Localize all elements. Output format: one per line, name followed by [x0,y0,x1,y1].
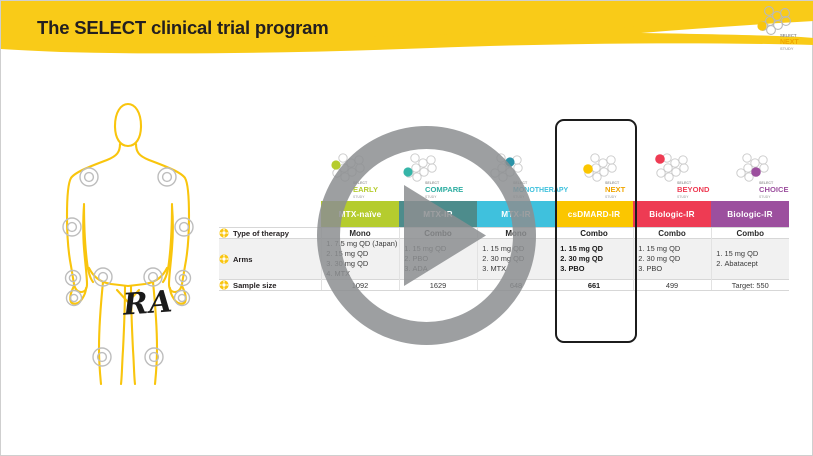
cell-arms-2: 15 mg QD30 mg QDMTX [477,239,555,280]
row-label-text: Arms [233,255,252,264]
select-monotherapy-logo: SELECT MONOTHERAPY STUDY [479,149,573,201]
cell-therapy-2: Mono [477,228,555,239]
arms-list-item: 30 mg QD [491,254,555,263]
study-logo-compare: SELECT COMPARE STUDY [393,143,479,201]
table-header-row: MTX-naïve MTX-IR MTX-IR csDMARD-IR Biolo… [219,201,789,228]
svg-text:CHOICE: CHOICE [759,185,789,194]
joint-icon [219,228,229,238]
col-header-5: Biologic-IR [711,201,789,228]
table-row: Sample size 1092 1629 648 661 499 Target… [219,280,789,291]
arms-list-item: Abatacept [725,259,790,268]
select-choice-logo: SELECT CHOICE STUDY [725,149,805,201]
slide: The SELECT clinical trial program SELECT… [1,1,812,455]
arms-list-item: PBO [647,264,711,273]
svg-text:SELECT: SELECT [780,33,797,38]
col-header-4: Biologic-IR [633,201,711,228]
cell-arms-5: 15 mg QDAbatacept [711,239,789,280]
arms-list-1: 15 mg QDPBOADA [400,244,477,273]
svg-text:STUDY: STUDY [780,46,794,51]
cell-therapy-5: Combo [711,228,789,239]
svg-text:MONOTHERAPY: MONOTHERAPY [513,187,569,194]
arms-list-item: MTX [491,264,555,273]
joint-markers [63,168,193,366]
select-next-logo: SELECT NEXT STUDY [573,149,645,201]
row-label-type-of-therapy: Type of therapy [219,228,321,239]
joint-icon [219,254,229,264]
study-logo-choice: SELECT CHOICE STUDY [725,143,805,201]
cell-therapy-3: Combo [555,228,633,239]
arms-list-item: 15 mg QD [647,244,711,253]
arms-list-item: 30 mg QD [647,254,711,263]
cell-n-1: 1629 [399,280,477,291]
row-label-sample-size: Sample size [219,280,321,291]
select-compare-logo: SELECT COMPARE STUDY [393,149,479,201]
arms-list-item: 15 mg QD [725,249,790,258]
arms-list-item: 15 mg QD [491,244,555,253]
arms-list-item: 15 mg QD [569,244,633,253]
arms-list-item: PBO [569,264,633,273]
svg-text:NEXT: NEXT [780,39,799,46]
arms-list-3: 15 mg QD30 mg QDPBO [556,244,633,273]
arms-list-item: 30 mg QD [335,259,399,268]
arms-list-4: 15 mg QD30 mg QDPBO [634,244,711,273]
arms-list-item: MTX [335,269,399,278]
cell-therapy-4: Combo [633,228,711,239]
cell-n-0: 1092 [321,280,399,291]
study-logo-next: SELECT NEXT STUDY [573,143,645,201]
svg-text:STUDY: STUDY [677,195,689,199]
select-beyond-logo: SELECT BEYOND STUDY [645,149,725,201]
ra-body-diagram: RA [41,86,216,386]
arms-list-2: 15 mg QD30 mg QDMTX [478,244,555,273]
cell-arms-4: 15 mg QD30 mg QDPBO [633,239,711,280]
arms-list-0: 7.5 mg QD (Japan)15 mg QD30 mg QDMTX [322,239,399,278]
svg-text:SELECT: SELECT [513,181,528,185]
cell-n-4: 499 [633,280,711,291]
arms-list-item: 30 mg QD [569,254,633,263]
page-title: The SELECT clinical trial program [37,17,329,39]
cell-n-2: 648 [477,280,555,291]
select-next-study-logo: SELECT NEXT STUDY [750,4,804,52]
svg-text:NEXT: NEXT [605,185,626,194]
study-logo-beyond: SELECT BEYOND STUDY [645,143,725,201]
col-header-2: MTX-IR [477,201,555,228]
cell-arms-1: 15 mg QDPBOADA [399,239,477,280]
row-label-text: Type of therapy [233,229,289,238]
svg-text:STUDY: STUDY [353,195,365,199]
cell-n-5: Target: 550 [711,280,789,291]
cell-n-3: 661 [555,280,633,291]
body-outline [41,86,216,386]
svg-text:STUDY: STUDY [759,195,771,199]
arms-list-item: 15 mg QD [335,249,399,258]
header-corner [219,201,321,228]
svg-text:COMPARE: COMPARE [425,185,463,194]
study-logo-monotherapy: SELECT MONOTHERAPY STUDY [479,143,573,201]
row-label-arms: Arms [219,239,321,280]
studies-table: MTX-naïve MTX-IR MTX-IR csDMARD-IR Biolo… [219,201,789,291]
svg-text:BEYOND: BEYOND [677,185,710,194]
arms-list-item: ADA [413,264,477,273]
col-header-0: MTX-naïve [321,201,399,228]
trial-matrix: SELECT EARLY STUDY SELECT COMPARE [219,143,789,291]
row-label-text: Sample size [233,281,276,290]
svg-text:STUDY: STUDY [425,195,437,199]
cell-arms-3: 15 mg QD30 mg QDPBO [555,239,633,280]
svg-text:STUDY: STUDY [513,195,525,199]
joint-icon [219,280,229,290]
ra-label: RA [122,284,175,322]
study-logo-early: SELECT EARLY STUDY [321,143,393,201]
table-row: Arms 7.5 mg QD (Japan)15 mg QD30 mg QDMT… [219,239,789,280]
header-banner: The SELECT clinical trial program SELECT… [1,1,813,63]
svg-text:EARLY: EARLY [353,185,378,194]
svg-text:STUDY: STUDY [605,195,617,199]
col-header-3: csDMARD-IR [555,201,633,228]
col-header-1: MTX-IR [399,201,477,228]
arms-list-item: 15 mg QD [413,244,477,253]
arms-list-item: PBO [413,254,477,263]
select-early-logo: SELECT EARLY STUDY [321,149,393,201]
arms-list-item: 7.5 mg QD (Japan) [335,239,399,248]
study-logo-row: SELECT EARLY STUDY SELECT COMPARE [219,143,789,201]
cell-therapy-0: Mono [321,228,399,239]
table-row: Type of therapy Mono Combo Mono Combo Co… [219,228,789,239]
cell-therapy-1: Combo [399,228,477,239]
arms-list-5: 15 mg QDAbatacept [712,249,790,268]
cell-arms-0: 7.5 mg QD (Japan)15 mg QD30 mg QDMTX [321,239,399,280]
